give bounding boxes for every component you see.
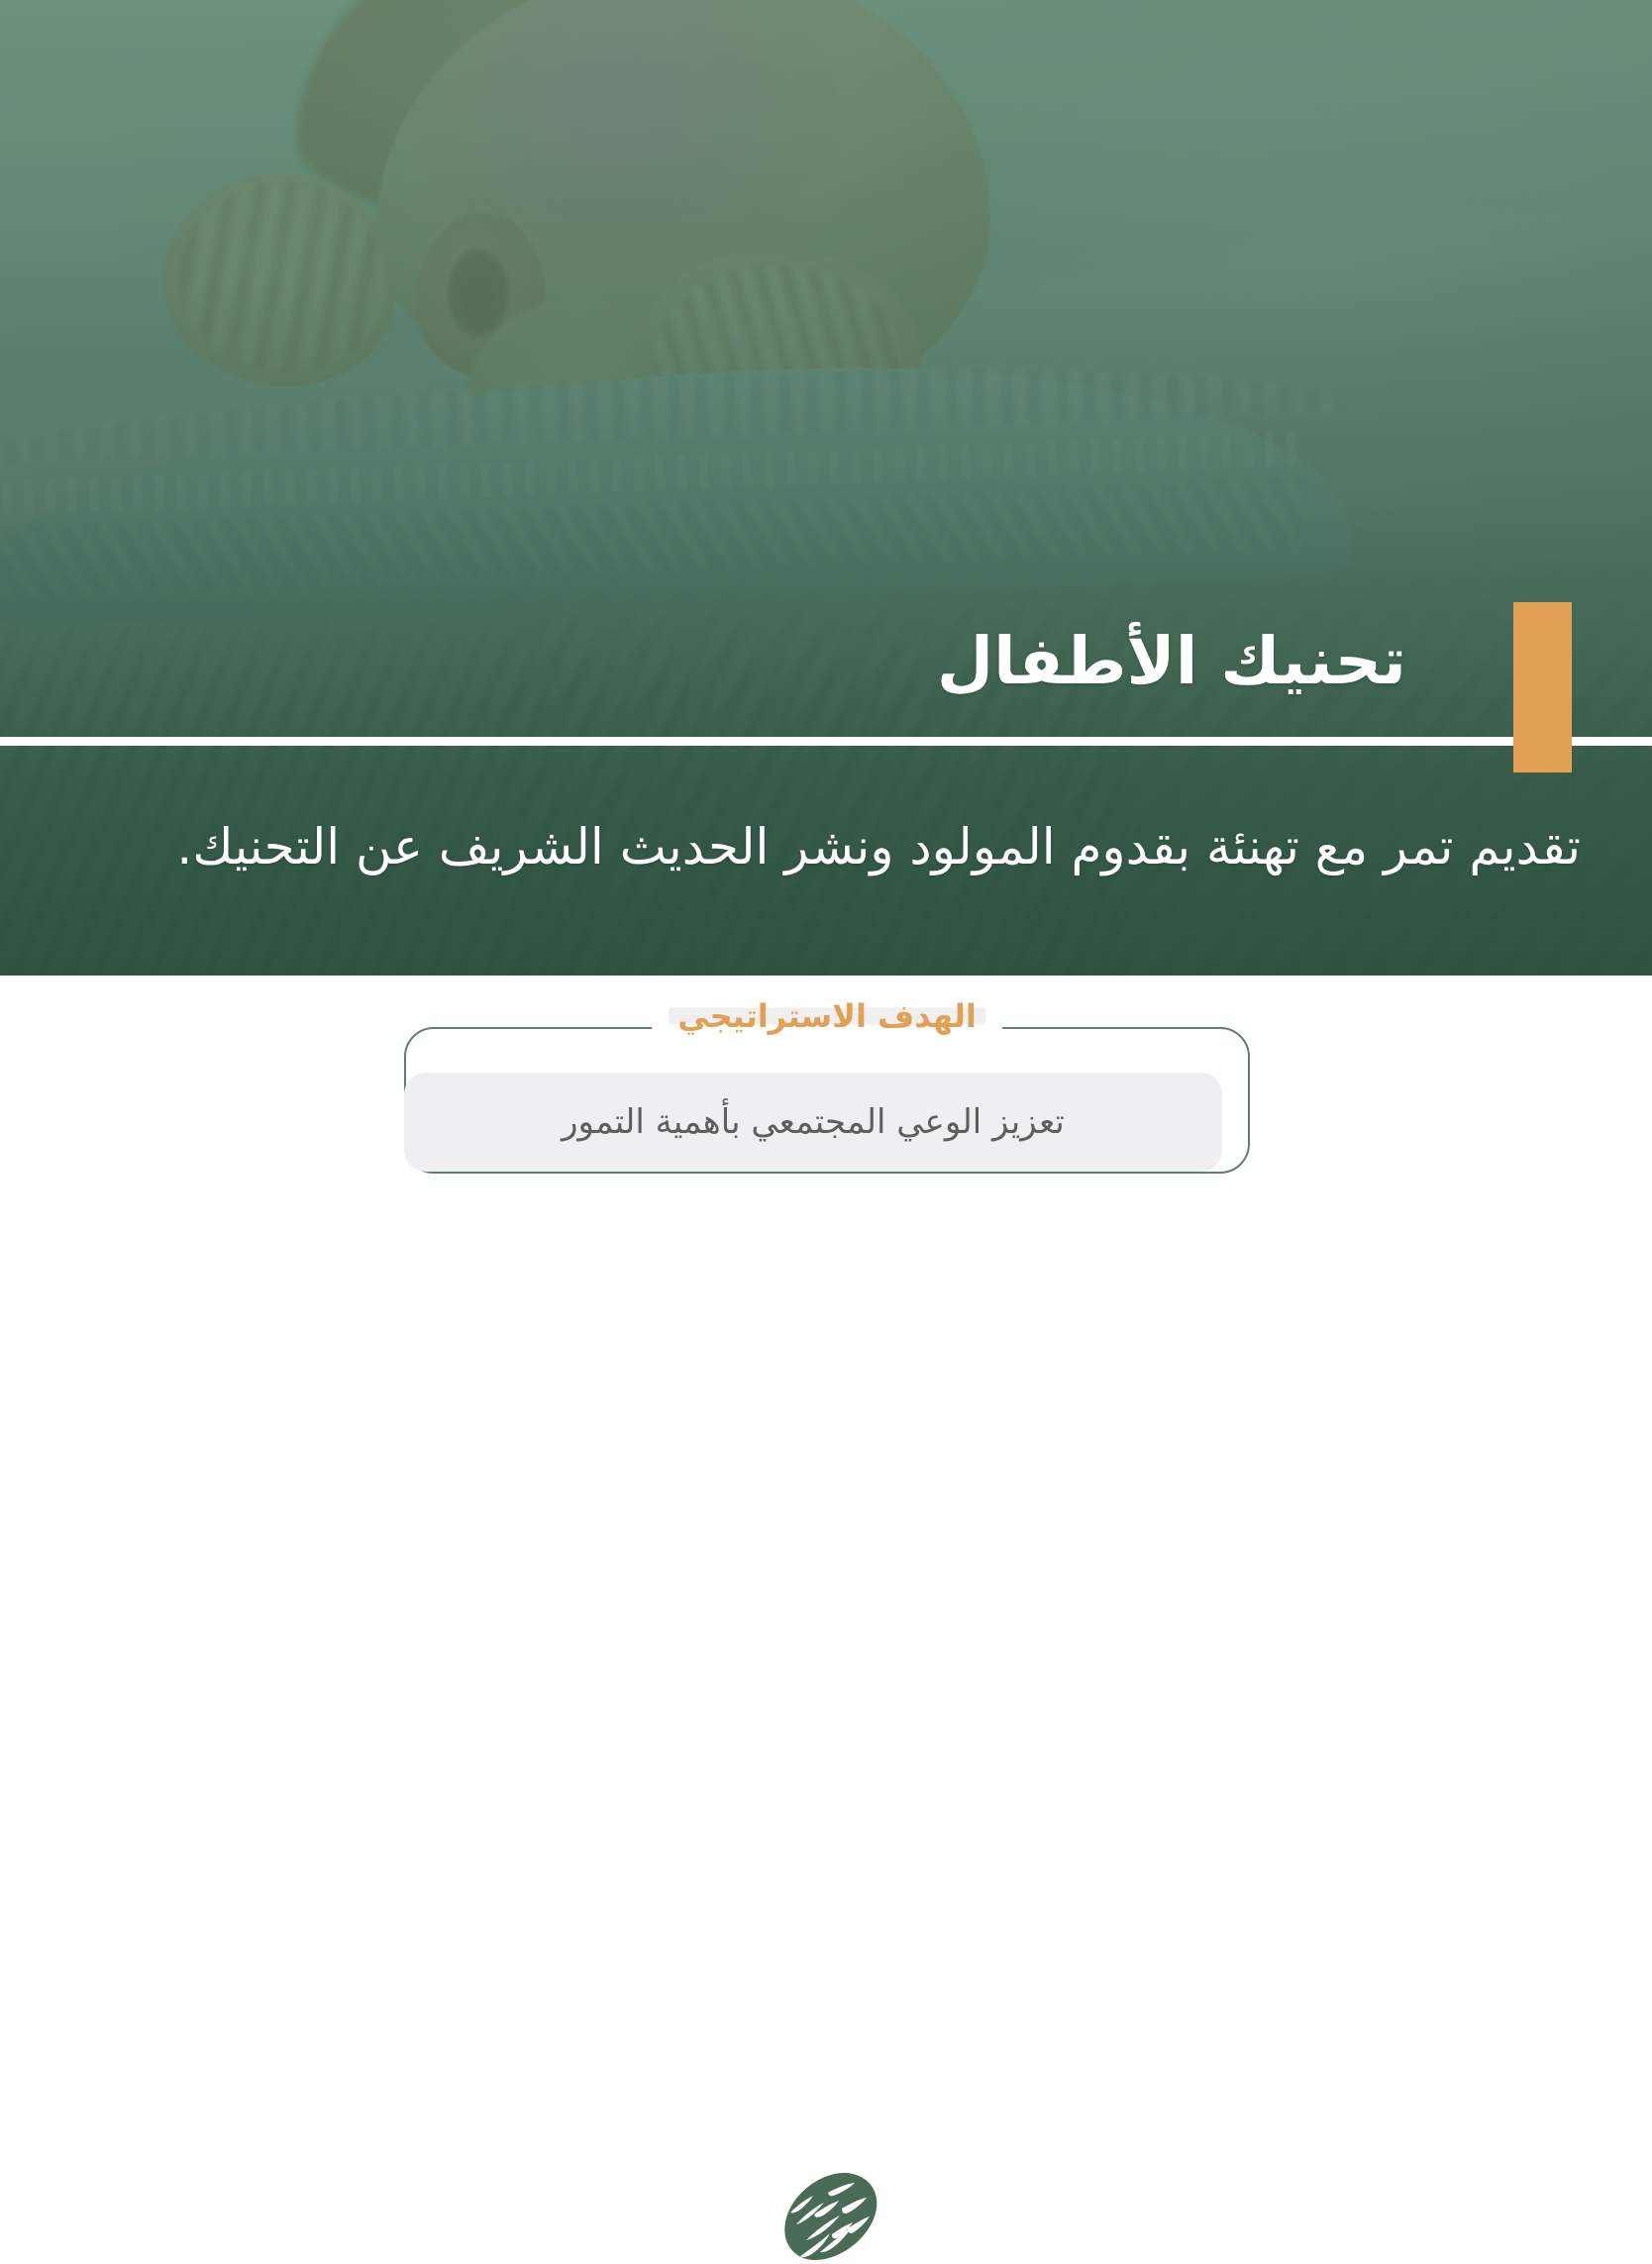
horizontal-divider bbox=[0, 737, 1652, 746]
hero-description: تقديم تمر مع تهنئة بقدوم المولود ونشر ال… bbox=[67, 812, 1581, 882]
goal-legend-label: الهدف الاستراتيجي bbox=[677, 1000, 977, 1032]
strategic-goal-card: الهدف الاستراتيجي تعزيز الوعي المجتمعي ب… bbox=[404, 1027, 1250, 1174]
hero-banner: تحنيك الأطفال تقديم تمر مع تهنئة بقدوم ا… bbox=[0, 0, 1652, 976]
accent-bar bbox=[1513, 602, 1572, 772]
date-fruit-icon bbox=[776, 2169, 879, 2264]
date-fruit-logo bbox=[776, 2169, 879, 2264]
page-title: تحنيك الأطفال bbox=[317, 624, 1406, 699]
goal-legend: الهدف الاستراتيجي bbox=[652, 1000, 1002, 1032]
strategic-goal-section: الهدف الاستراتيجي تعزيز الوعي المجتمعي ب… bbox=[0, 976, 1652, 1312]
goal-value-box: تعزيز الوعي المجتمعي بأهمية التمور bbox=[404, 1073, 1222, 1172]
